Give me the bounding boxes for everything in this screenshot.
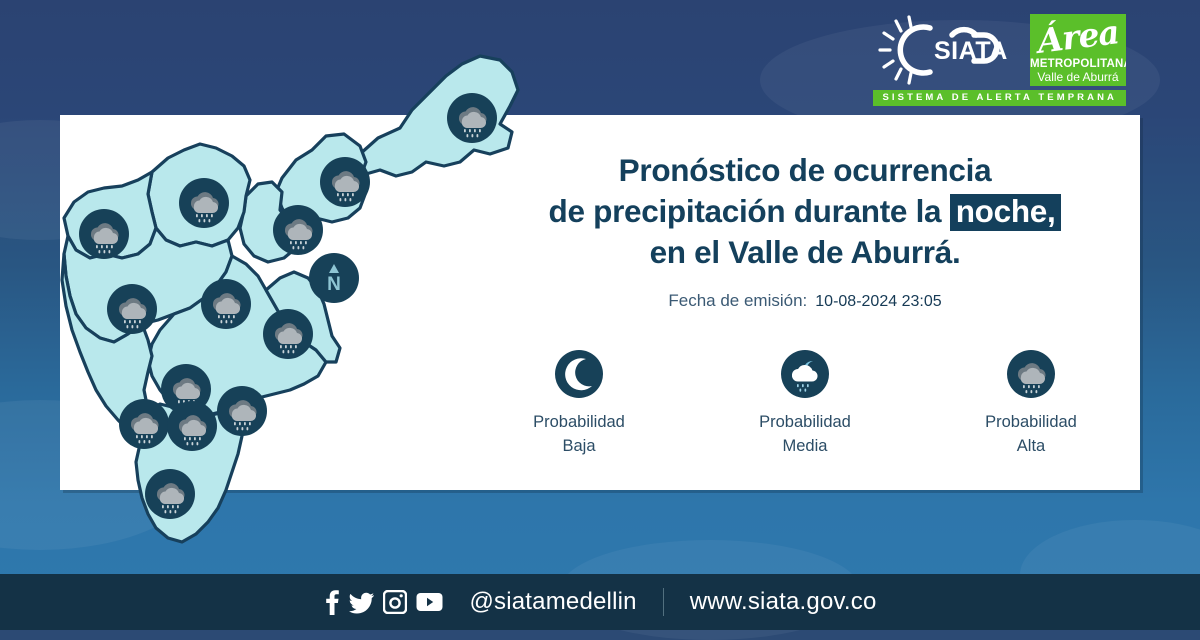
- facebook-icon[interactable]: [323, 589, 340, 615]
- cloud-heavy-rain-icon: [1006, 349, 1056, 399]
- title-line-2-text: de precipitación durante la: [549, 193, 950, 229]
- map-marker-girardota: [319, 156, 371, 208]
- svg-text:SIATA: SIATA: [934, 37, 1008, 65]
- map-marker-san-pedro: [178, 177, 230, 229]
- map-marker-medellin-centro: [262, 308, 314, 360]
- footer-bar: @siatamedellin www.siata.gov.co: [0, 574, 1200, 630]
- area-metropolitana-logo: Área METROPOLITANA Valle de Aburrá: [1030, 14, 1126, 86]
- logo-row: SIATA Área METROPOLITANA Valle de Aburrá: [878, 14, 1126, 86]
- siata-tagline-bar: SISTEMA DE ALERTA TEMPRANA: [873, 90, 1126, 106]
- title-line-2: de precipitación durante la noche,: [480, 191, 1130, 232]
- legend-label-media: Probabilidad Media: [735, 411, 875, 459]
- map-marker-bello: [106, 283, 158, 335]
- map-marker-medellin-norte: [200, 278, 252, 330]
- forecast-content: Pronóstico de ocurrencia de precipitació…: [480, 150, 1130, 459]
- twitter-icon[interactable]: [349, 590, 374, 615]
- map-marker-la-estrella: [166, 400, 218, 452]
- title-line-1: Pronóstico de ocurrencia: [480, 150, 1130, 191]
- probability-legend: Probabilidad Baja Probabilidad: [480, 349, 1130, 459]
- emission-date: Fecha de emisión: 10-08-2024 23:05: [480, 291, 1130, 311]
- website-url[interactable]: www.siata.gov.co: [690, 588, 877, 616]
- social-handle[interactable]: @siatamedellin: [469, 588, 636, 616]
- cloud-moon-rain-icon: [780, 349, 830, 399]
- am-logo-script: Área: [1030, 14, 1126, 62]
- compass-rose: N: [308, 252, 360, 304]
- legend-item-baja: Probabilidad Baja: [509, 349, 649, 459]
- emission-date-label: Fecha de emisión:: [668, 291, 807, 311]
- svg-text:N: N: [327, 274, 341, 295]
- am-logo-metropolitana: METROPOLITANA: [1030, 58, 1126, 70]
- title-highlight-noche: noche,: [950, 194, 1062, 231]
- legend-item-alta: Probabilidad Alta: [961, 349, 1101, 459]
- emission-date-value: 10-08-2024 23:05: [815, 293, 941, 311]
- map-marker-sabaneta: [118, 398, 170, 450]
- map-marker-copacabana: [272, 204, 324, 256]
- footer-divider: [663, 588, 664, 616]
- youtube-icon[interactable]: [416, 592, 443, 612]
- legend-label-alta: Probabilidad Alta: [961, 411, 1101, 459]
- map-marker-bello-norte: [78, 208, 130, 260]
- moon-icon: [554, 349, 604, 399]
- siata-logo: SIATA: [878, 15, 1018, 85]
- legend-item-media: Probabilidad Media: [735, 349, 875, 459]
- map-marker-barbosa: [446, 92, 498, 144]
- logo-group: SIATA Área METROPOLITANA Valle de Aburrá…: [873, 14, 1126, 106]
- instagram-icon[interactable]: [383, 590, 407, 614]
- page-title: Pronóstico de ocurrencia de precipitació…: [480, 150, 1130, 273]
- legend-label-baja: Probabilidad Baja: [509, 411, 649, 459]
- title-line-3: en el Valle de Aburrá.: [480, 232, 1130, 273]
- social-icons: [323, 589, 443, 615]
- am-logo-valle: Valle de Aburrá: [1030, 70, 1126, 84]
- map-marker-caldas: [144, 468, 196, 520]
- map-marker-envigado: [216, 385, 268, 437]
